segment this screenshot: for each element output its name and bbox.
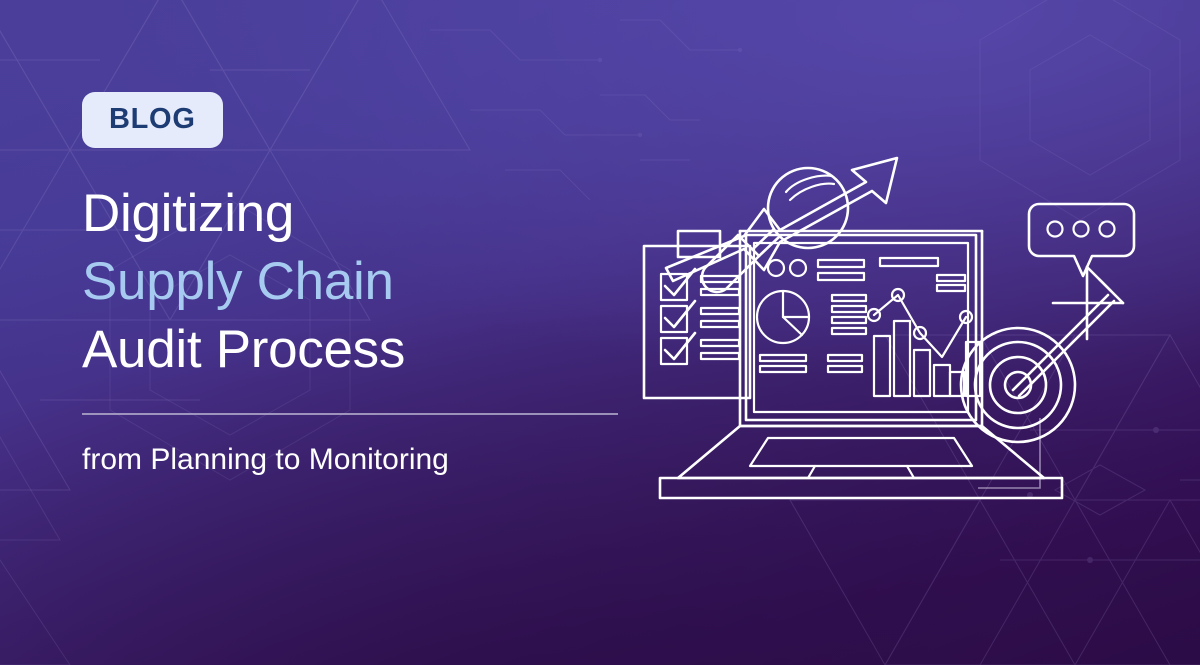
headline-line-1: Digitizing [82, 180, 682, 248]
headline-line-2: Supply Chain [82, 248, 682, 316]
audit-illustration [640, 150, 1140, 530]
target-arrow-icon [961, 267, 1123, 442]
laptop-base [660, 426, 1062, 498]
headline-line-3: Audit Process [82, 316, 682, 384]
text-column: BLOG Digitizing Supply Chain Audit Proce… [82, 92, 682, 477]
headline-divider [82, 413, 618, 415]
line-chart-icon [868, 289, 972, 357]
pattern-left-edge [0, 420, 70, 665]
laptop-dashboard-icon [660, 231, 1062, 498]
blog-badge[interactable]: BLOG [82, 92, 223, 148]
blog-banner: BLOG Digitizing Supply Chain Audit Proce… [0, 0, 1200, 665]
clipboard-checklist-icon [644, 231, 750, 398]
page-subtitle: from Planning to Monitoring [82, 443, 682, 477]
chat-bubble-icon [1029, 204, 1134, 276]
page-title: Digitizing Supply Chain Audit Process [82, 180, 682, 383]
pie-chart-icon [757, 291, 809, 343]
dashboard-content [757, 258, 980, 396]
